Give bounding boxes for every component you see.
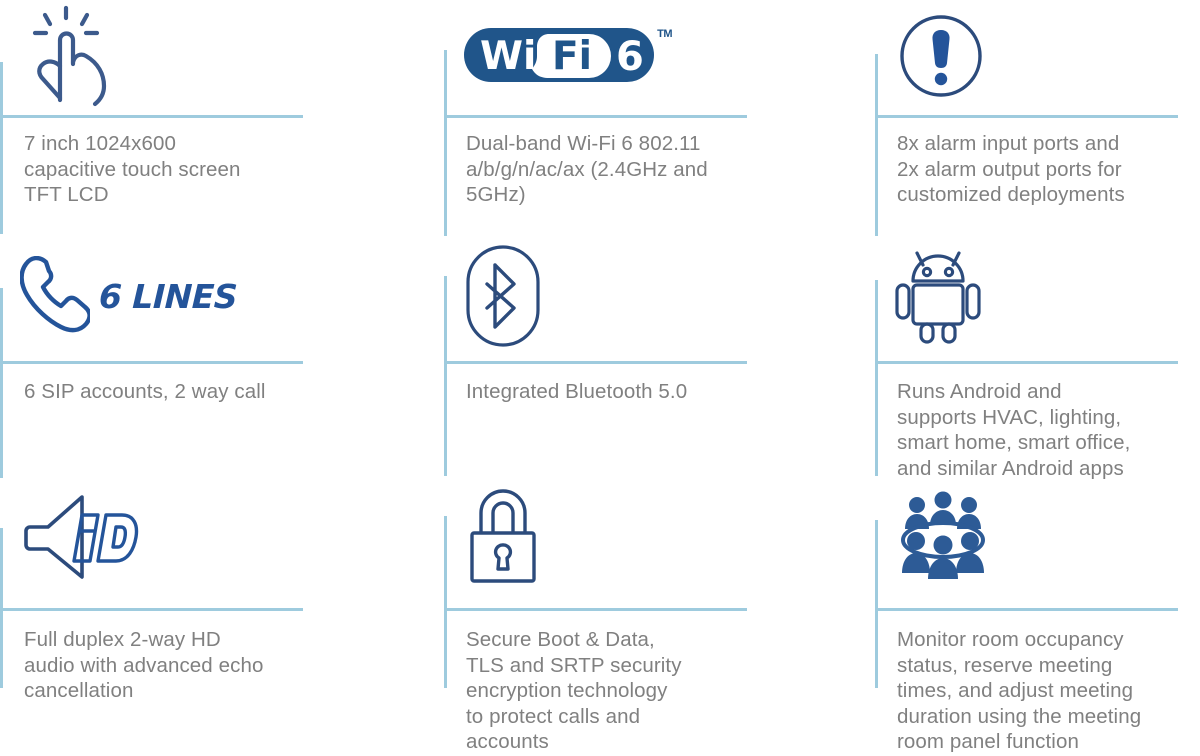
divider-horizontal [875, 115, 1178, 118]
wifi-6-logo-icon: Wi Fi 6 TM [464, 0, 660, 112]
touch-screen-icon [20, 0, 116, 112]
divider-vertical [875, 520, 878, 688]
android-robot-icon [895, 240, 981, 352]
divider-horizontal [0, 608, 303, 611]
divider-horizontal [444, 608, 747, 611]
feature-cell-bluetooth: Integrated Bluetooth 5.0 [432, 240, 862, 480]
divider-vertical [875, 54, 878, 236]
feature-description: 6 SIP accounts, 2 way call [24, 379, 324, 405]
feature-cell-wifi6: Wi Fi 6 TM Dual-band Wi-Fi 6 802.11 a/b/… [432, 0, 862, 240]
divider-vertical [444, 276, 447, 476]
feature-description: Full duplex 2-way HD audio with advanced… [24, 627, 324, 704]
feature-description: Integrated Bluetooth 5.0 [466, 379, 756, 405]
divider-horizontal [875, 608, 1178, 611]
feature-description: Dual-band Wi-Fi 6 802.11 a/b/g/n/ac/ax (… [466, 131, 756, 208]
divider-horizontal [875, 361, 1178, 364]
divider-horizontal [444, 361, 747, 364]
alarm-exclamation-icon [895, 0, 987, 112]
feature-cell-android: Runs Android and supports HVAC, lighting… [862, 240, 1200, 480]
feature-cell-hd-audio: Full duplex 2-way HD audio with advanced… [0, 480, 432, 756]
svg-text:Fi: Fi [552, 34, 592, 79]
divider-horizontal [0, 115, 303, 118]
divider-vertical [444, 516, 447, 688]
divider-vertical [875, 280, 878, 476]
feature-cell-alarm-ports: 8x alarm input ports and 2x alarm output… [862, 0, 1200, 240]
feature-cell-meeting-room: Monitor room occupancy status, reserve m… [862, 480, 1200, 756]
feature-description: 8x alarm input ports and 2x alarm output… [897, 131, 1200, 208]
hd-speaker-icon [20, 480, 148, 592]
feature-description: Monitor room occupancy status, reserve m… [897, 627, 1200, 755]
padlock-icon [464, 480, 542, 592]
divider-horizontal [444, 115, 747, 118]
bluetooth-icon [464, 240, 542, 352]
divider-vertical [444, 50, 447, 236]
divider-horizontal [0, 361, 303, 364]
feature-description: 7 inch 1024x600 capacitive touch screen … [24, 131, 324, 208]
feature-cell-touch-screen: 7 inch 1024x600 capacitive touch screen … [0, 0, 432, 240]
feature-grid: 7 inch 1024x600 capacitive touch screen … [0, 0, 1200, 756]
feature-cell-six-lines: 6 LINES 6 SIP accounts, 2 way call [0, 240, 432, 480]
divider-vertical [0, 288, 3, 478]
feature-description: Secure Boot & Data, TLS and SRTP securit… [466, 627, 756, 755]
six-lines-phone-icon: 6 LINES [20, 240, 237, 352]
trademark-mark: TM [657, 28, 672, 40]
svg-text:Wi: Wi [480, 34, 536, 79]
feature-description: Runs Android and supports HVAC, lighting… [897, 379, 1200, 481]
meeting-room-people-icon [895, 480, 991, 592]
svg-text:6: 6 [616, 34, 644, 80]
six-lines-label: 6 LINES [98, 277, 238, 316]
divider-vertical [0, 62, 3, 234]
feature-cell-security: Secure Boot & Data, TLS and SRTP securit… [432, 480, 862, 756]
